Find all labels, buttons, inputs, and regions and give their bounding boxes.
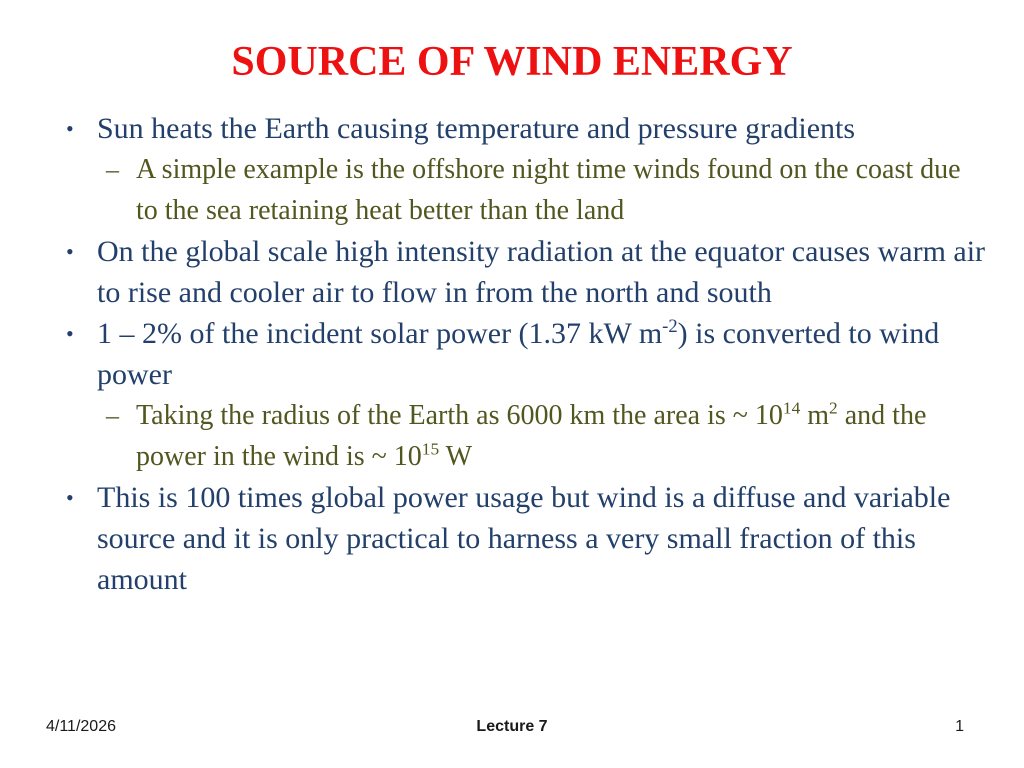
dash-marker-icon: –	[106, 149, 136, 190]
bullet-item: •1 – 2% of the incident solar power (1.3…	[58, 313, 988, 395]
text-run: m	[800, 400, 829, 431]
bullet-text: 1 – 2% of the incident solar power (1.37…	[97, 313, 988, 395]
bullet-marker-icon: •	[58, 108, 97, 149]
bullet-item: •On the global scale high intensity radi…	[58, 231, 988, 313]
bullet-marker-icon: •	[58, 313, 97, 354]
slide-body: •Sun heats the Earth causing temperature…	[58, 108, 988, 600]
bullet-text: On the global scale high intensity radia…	[97, 231, 988, 313]
text-run: W	[439, 441, 472, 472]
superscript: -2	[662, 316, 678, 337]
superscript: 14	[783, 399, 800, 418]
sub-bullet-wrapper: –A simple example is the offshore night …	[58, 149, 988, 231]
footer-page-number: 1	[955, 718, 964, 736]
bullet-marker-icon: •	[58, 231, 97, 272]
text-run: Taking the radius of the Earth as 6000 k…	[136, 400, 783, 431]
page-title: SOURCE OF WIND ENERGY	[0, 38, 1024, 86]
bullet-text: Sun heats the Earth causing temperature …	[97, 108, 988, 149]
slide-footer: 4/11/2026 Lecture 7 1	[0, 718, 1024, 746]
bullet-text: Taking the radius of the Earth as 6000 k…	[136, 395, 988, 477]
text-run: 1 – 2% of the incident solar power (1.37…	[97, 317, 662, 350]
superscript: 15	[422, 440, 439, 459]
bullet-text: A simple example is the offshore night t…	[136, 149, 988, 231]
bullet-item: •Sun heats the Earth causing temperature…	[58, 108, 988, 149]
footer-lecture-label: Lecture 7	[0, 718, 1024, 736]
sub-bullet-item: –A simple example is the offshore night …	[106, 149, 988, 231]
superscript: 2	[829, 399, 838, 418]
sub-bullet-wrapper: –Taking the radius of the Earth as 6000 …	[58, 395, 988, 477]
dash-marker-icon: –	[106, 395, 136, 436]
bullet-item: •This is 100 times global power usage bu…	[58, 477, 988, 600]
presentation-slide: SOURCE OF WIND ENERGY •Sun heats the Ear…	[0, 0, 1024, 768]
sub-bullet-item: –Taking the radius of the Earth as 6000 …	[106, 395, 988, 477]
bullet-text: This is 100 times global power usage but…	[97, 477, 988, 600]
bullet-marker-icon: •	[58, 477, 97, 518]
